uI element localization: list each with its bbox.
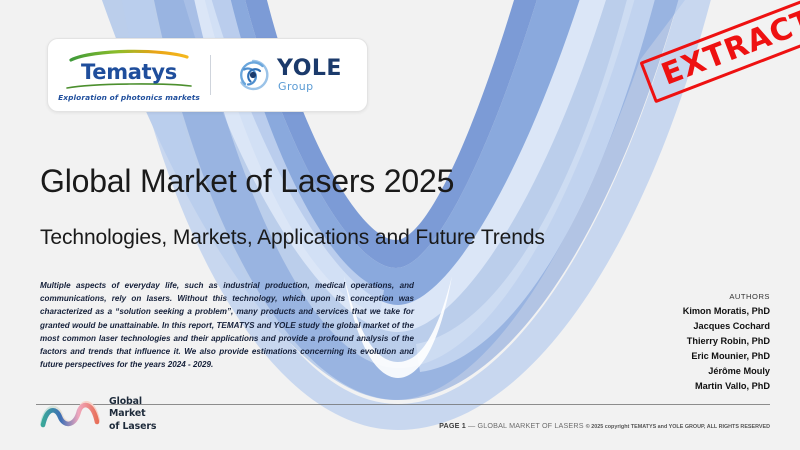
yole-subtext: Group [278,81,342,92]
author-name: Jacques Cochard [683,319,770,334]
wave-m-icon [40,400,102,430]
yole-logo: YOLE Group [211,39,367,111]
author-name: Jérôme Mouly [683,364,770,379]
brand-line-2: Market [109,408,156,420]
authors-block: AUTHORS Kimon Moratis, PhD Jacques Cocha… [683,292,770,393]
author-name: Kimon Moratis, PhD [683,304,770,319]
page-title: Global Market of Lasers 2025 [40,163,680,200]
author-name: Eric Mounier, PhD [683,349,770,364]
tematys-underline-icon [65,83,193,90]
report-cover-slide: Tematys Exploration of photonics markets [0,0,800,450]
author-name: Thierry Robin, PhD [683,334,770,349]
tematys-logo: Tematys Exploration of photonics markets [48,39,210,111]
page-number: PAGE 1 [439,421,466,430]
abstract-paragraph: Multiple aspects of everyday life, such … [40,279,414,371]
footer-copyright: © 2025 copyright TEMATYS and YOLE GROUP,… [586,424,770,430]
tematys-tagline: Exploration of photonics markets [58,93,200,102]
brand-line-1: Global [109,396,156,408]
author-name: Martin Vallo, PhD [683,379,770,394]
tematys-wordmark: Tematys [81,62,177,83]
spiral-icon [236,58,270,92]
footer-caption: PAGE 1 — GLOBAL MARKET OF LASERS © 2025 … [439,421,770,430]
partner-logo-card: Tematys Exploration of photonics markets [47,38,368,112]
page-subtitle: Technologies, Markets, Applications and … [40,226,680,250]
authors-label: AUTHORS [683,292,770,301]
brand-line-3: of Lasers [109,421,156,433]
footer-separator: — [468,421,475,430]
footer-report-name: GLOBAL MARKET OF LASERS [478,421,584,430]
yole-wordmark: YOLE [277,58,342,80]
global-market-of-lasers-logo: Global Market of Lasers [40,396,156,433]
